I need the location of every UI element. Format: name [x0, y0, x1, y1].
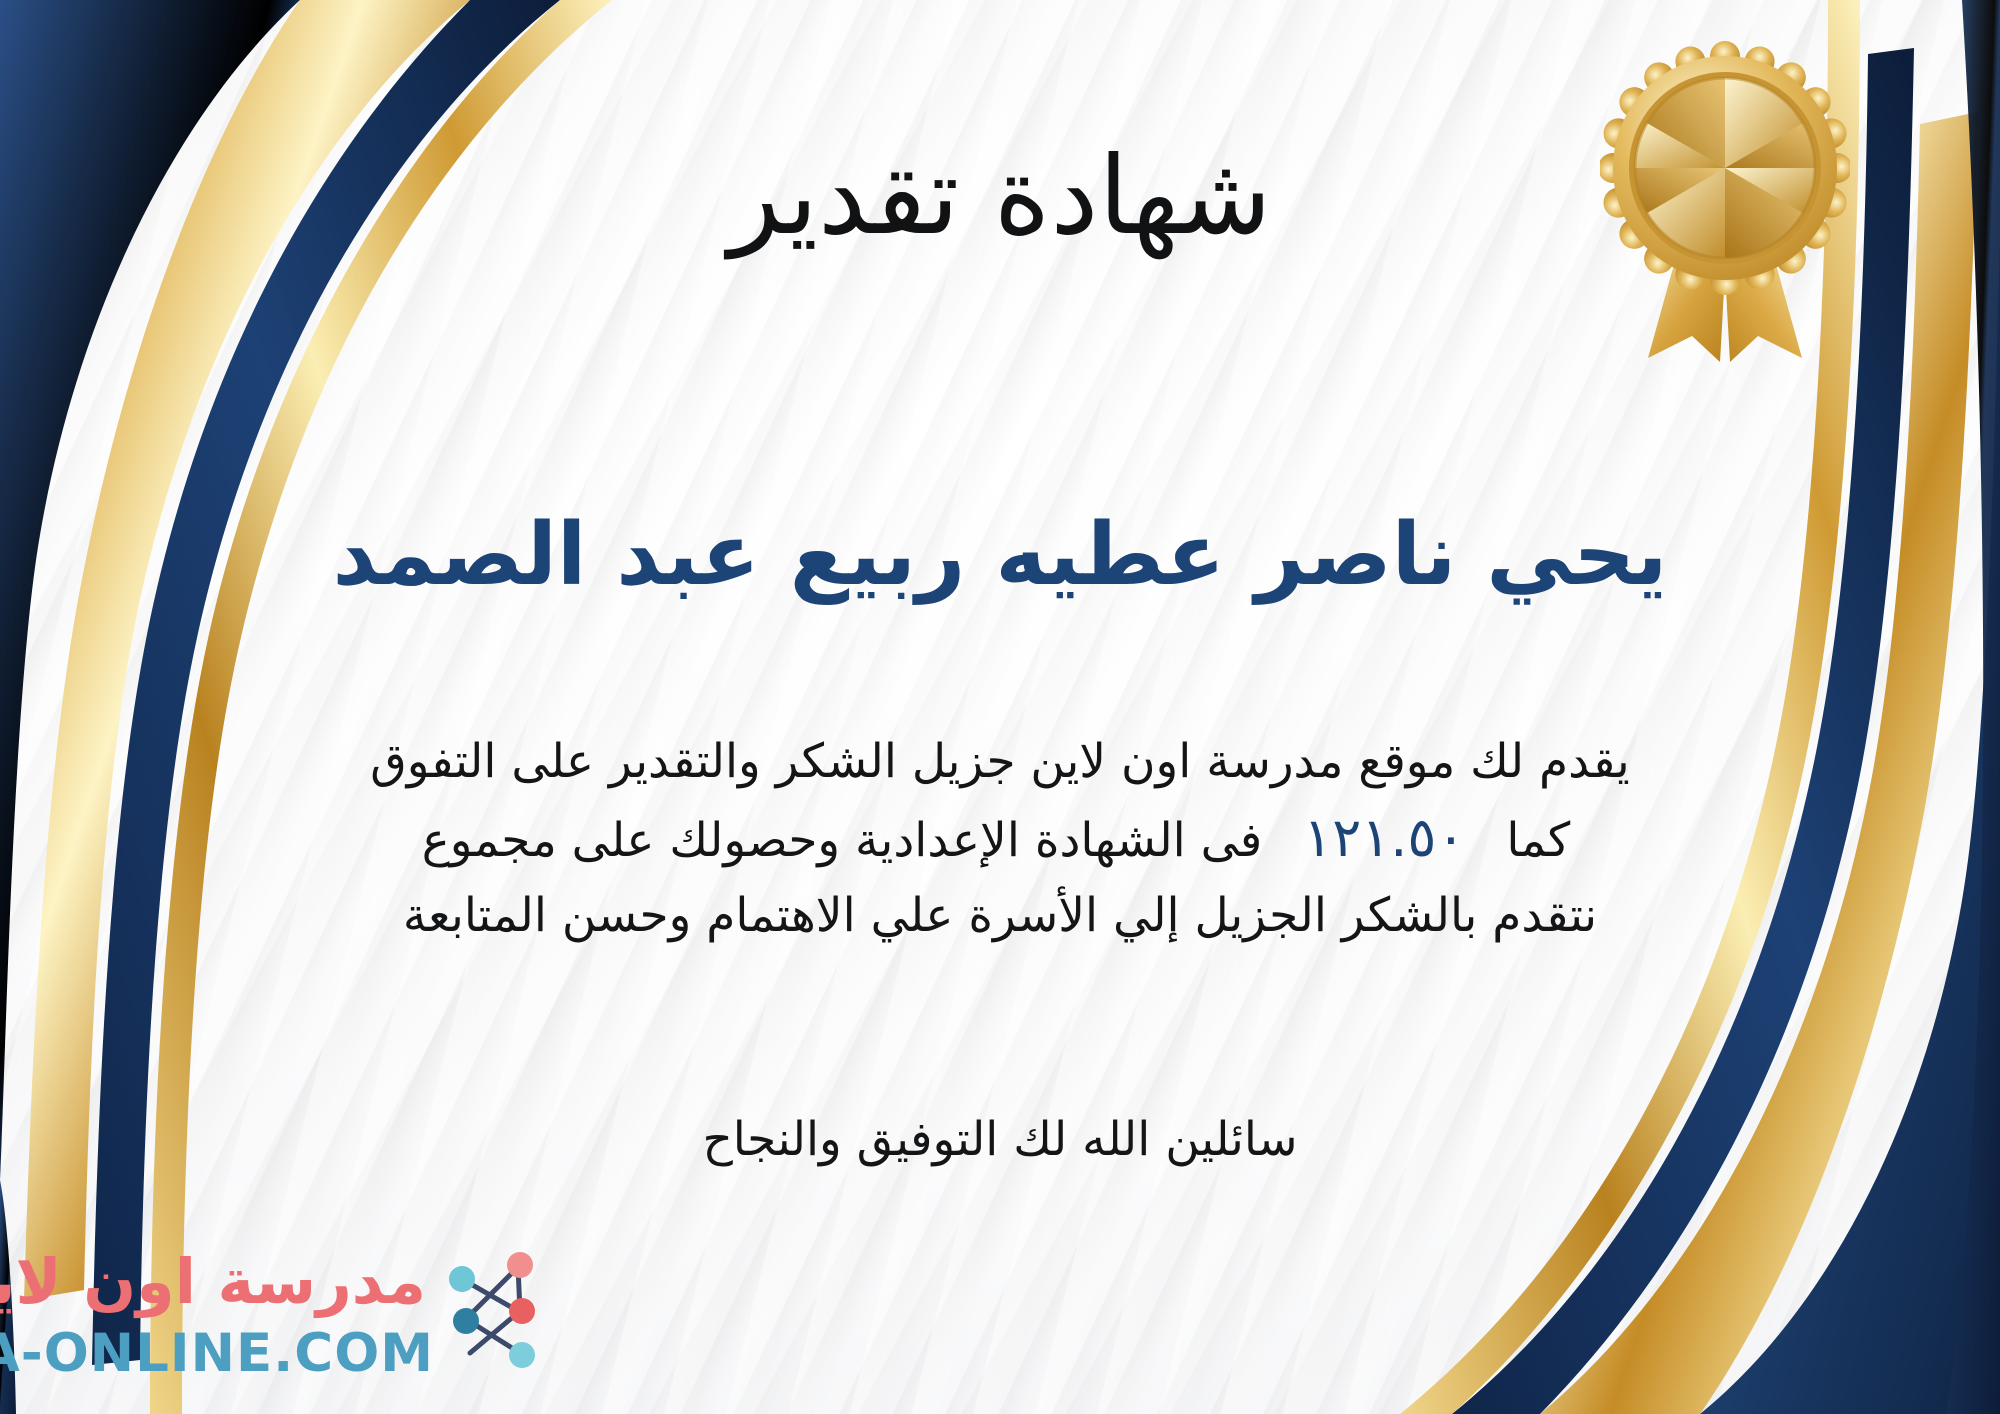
- body-line-2: كما ١٢١.٥٠ فى الشهادة الإعدادية وحصولك ع…: [160, 797, 1840, 879]
- brand-arabic-name: مدرسة اون لاين: [0, 1245, 426, 1318]
- grade-value: ١٢١.٥٠: [1277, 797, 1491, 879]
- body-line-2-suffix: كما: [1506, 805, 1578, 876]
- certificate-page: شهادة تقدير يحي ناصر عطيه ربيع عبد الصمد…: [0, 0, 2000, 1414]
- recipient-name: يحي ناصر عطيه ربيع عبد الصمد: [0, 508, 2000, 603]
- certificate-body: يقدم لك موقع مدرسة اون لاين جزيل الشكر و…: [160, 726, 1840, 951]
- brand-website: MADRSA-ONLINE.COM: [0, 1323, 434, 1384]
- brand-logo[interactable]: مدرسة اون لاين MADRSA-ONLINE.COM: [26, 1245, 546, 1395]
- closing-line: سائلين الله لك التوفيق والنجاح: [0, 1112, 2000, 1167]
- network-nodes-icon: [440, 1249, 548, 1377]
- page-title: شهادة تقدير: [0, 140, 2000, 253]
- body-line-3: نتقدم بالشكر الجزيل إلي الأسرة علي الاهت…: [160, 880, 1840, 951]
- body-line-1: يقدم لك موقع مدرسة اون لاين جزيل الشكر و…: [160, 726, 1840, 797]
- certificate-content: شهادة تقدير يحي ناصر عطيه ربيع عبد الصمد…: [0, 0, 2000, 1414]
- body-line-2-prefix: فى الشهادة الإعدادية وحصولك على مجموع: [422, 813, 1263, 868]
